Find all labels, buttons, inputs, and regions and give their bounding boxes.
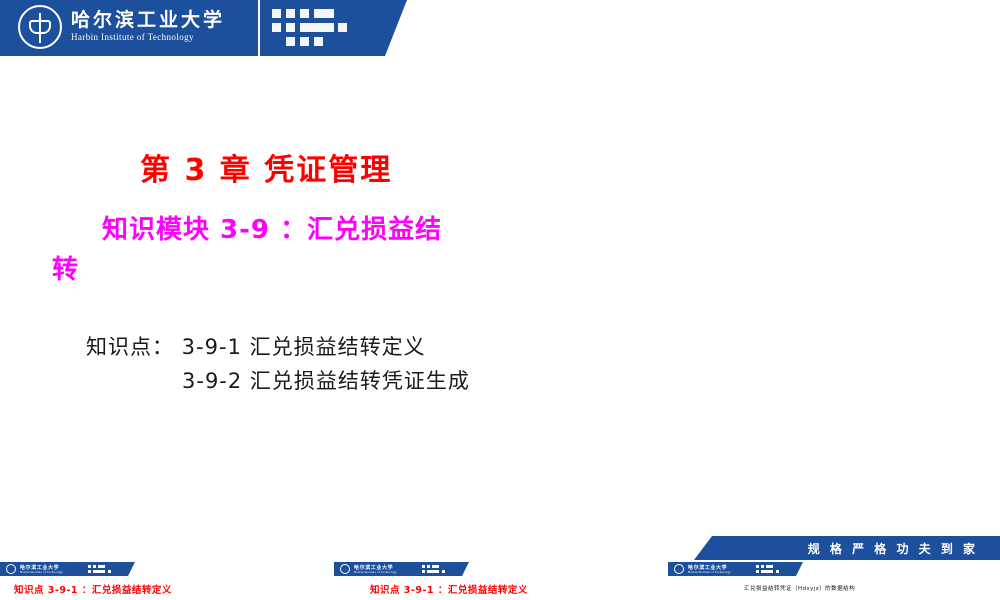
module-title-line2: 转 [52,250,672,290]
vertical-divider-icon [258,0,260,56]
dot-grid-icon [756,565,790,574]
knowledge-points: 知识点： 3-9-1 汇兑损益结转定义 3-9-2 汇兑损益结转凭证生成 [86,330,470,398]
logo-text-cn: 哈尔滨工业大学 [71,10,225,31]
slide-thumbnail-1[interactable]: 哈尔滨工业大学 Harbin Institute of Technology 知… [0,562,330,600]
knowledge-point-1: 知识点： 3-9-1 汇兑损益结转定义 [86,330,470,364]
dot-grid-icon [272,9,380,47]
slide-thumbnail-strip[interactable]: 哈尔滨工业大学 Harbin Institute of Technology 知… [0,562,1000,600]
dot-grid-icon [88,565,122,574]
thumb-logo-en-3: Harbin Institute of Technology [688,570,731,574]
chapter-title: 第 3 章 凭证管理 [140,145,392,189]
dot-grid-icon [422,565,456,574]
thumb-logo-en-1: Harbin Institute of Technology [20,570,63,574]
thumb-title-1: 知识点 3-9-1 ：汇兑损益结转定义 [14,582,172,596]
university-logo: 哈尔滨工业大学 Harbin Institute of Technology [18,5,225,49]
slide-header: 哈尔滨工业大学 Harbin Institute of Technology [0,0,1000,56]
hit-shield-emblem-icon [6,564,16,574]
thumb-title-3: 汇兑损益结转凭证（Hdsyjz）的数据结构 [744,584,855,592]
logo-text-en: Harbin Institute of Technology [71,31,225,45]
thumb-title-2: 知识点 3-9-1 ：汇兑损益结转定义 [370,582,528,596]
footer-motto: 规 格 严 格 功 夫 到 家 [808,540,978,557]
thumb-header-2: 哈尔滨工业大学 Harbin Institute of Technology [334,562,664,576]
module-title-line1: 知识模块 3-9 ：汇兑损益结 [52,210,672,250]
thumb-header-3: 哈尔滨工业大学 Harbin Institute of Technology [668,562,998,576]
hit-shield-emblem-icon [674,564,684,574]
hit-shield-emblem-icon [340,564,350,574]
thumb-header-1: 哈尔滨工业大学 Harbin Institute of Technology [0,562,330,576]
knowledge-point-2: 3-9-2 汇兑损益结转凭证生成 [86,364,470,398]
slide-thumbnail-3[interactable]: 哈尔滨工业大学 Harbin Institute of Technology 汇… [668,562,998,600]
thumb-logo-en-2: Harbin Institute of Technology [354,570,397,574]
footer-banner: 规 格 严 格 功 夫 到 家 [0,536,1000,560]
slide-thumbnail-2[interactable]: 哈尔滨工业大学 Harbin Institute of Technology 知… [334,562,664,600]
footer-blue-band: 规 格 严 格 功 夫 到 家 [712,536,1000,560]
hit-shield-emblem-icon [18,5,62,49]
module-title: 知识模块 3-9 ：汇兑损益结 转 [52,210,672,291]
